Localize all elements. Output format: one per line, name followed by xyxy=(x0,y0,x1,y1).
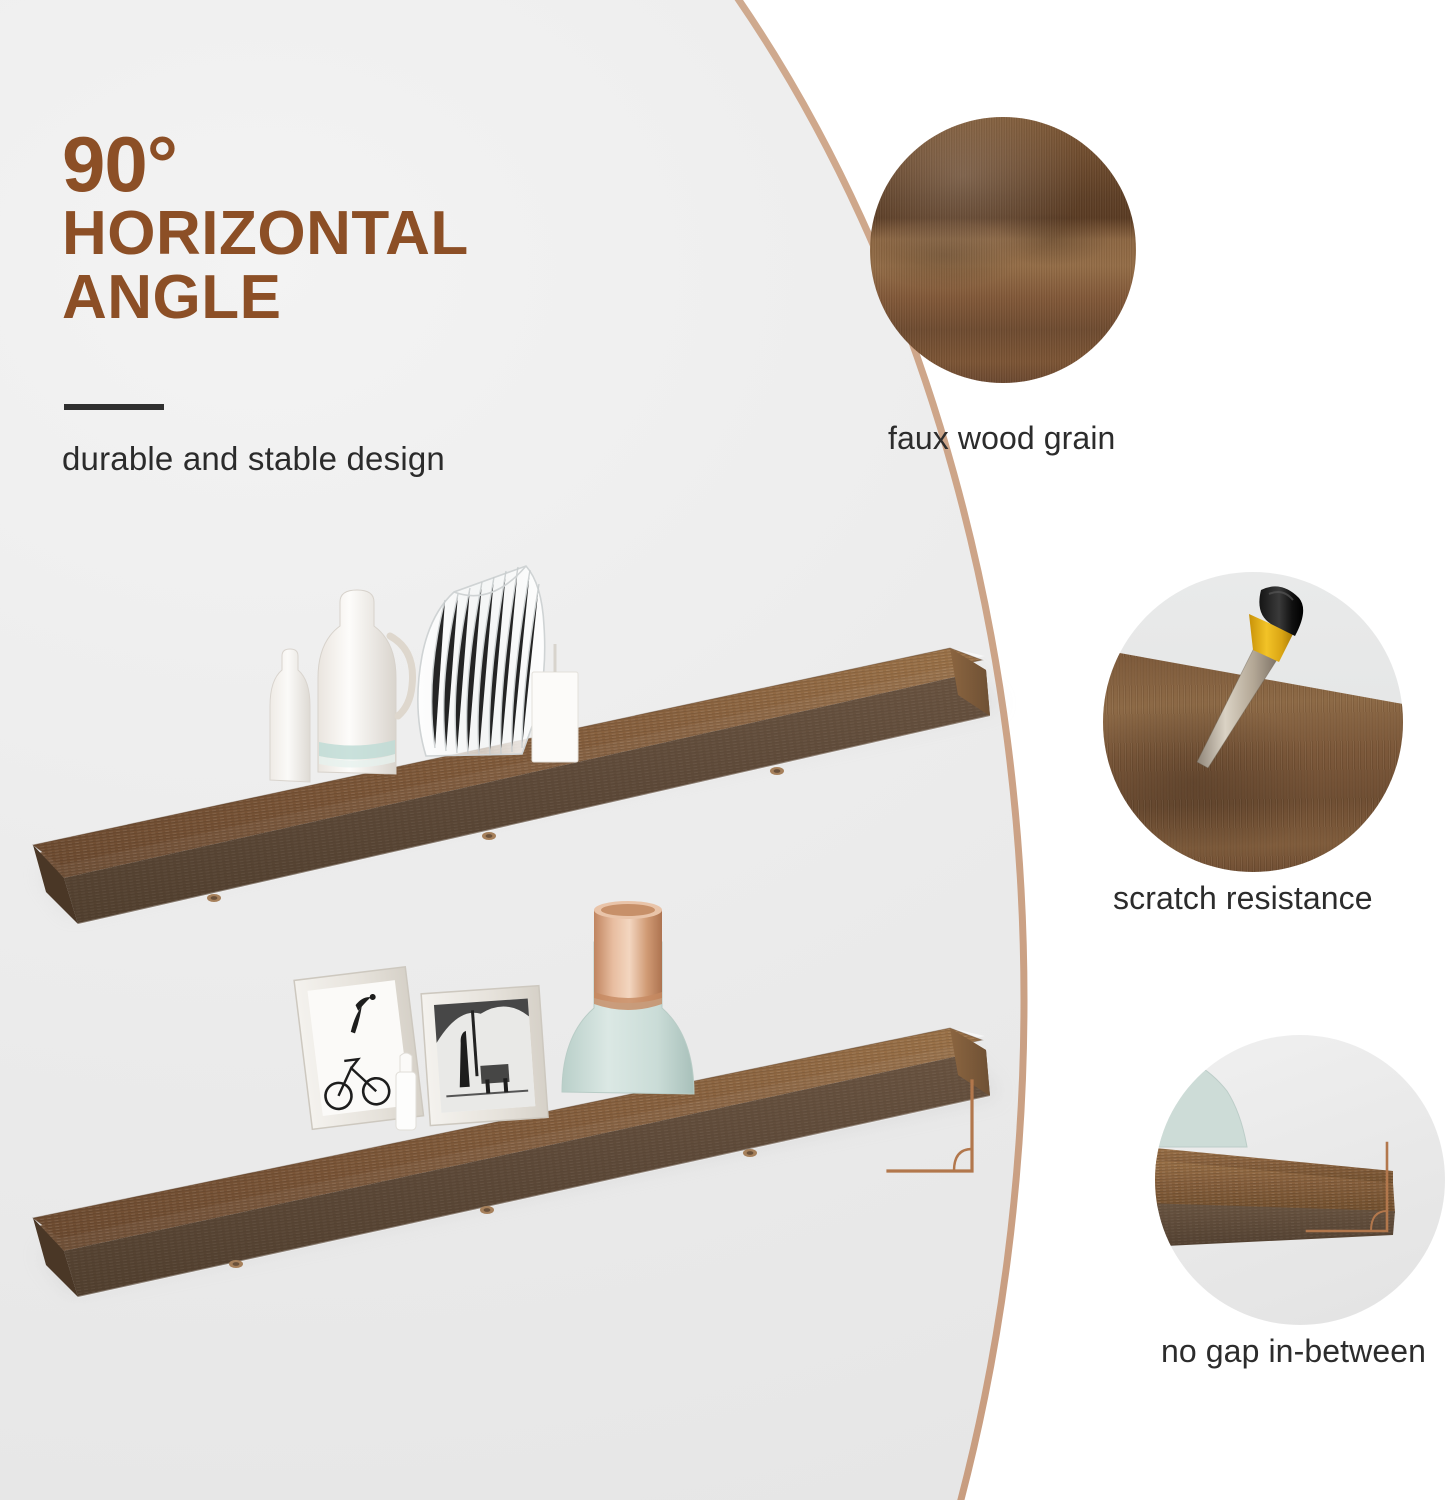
shelf-screw xyxy=(207,894,221,902)
no-gap-caption: no gap in-between xyxy=(1161,1333,1426,1370)
feature-no-gap-in-between: no gap in-between xyxy=(1155,1035,1445,1325)
no-gap-photo xyxy=(1155,1035,1445,1325)
scratch-resistance-photo xyxy=(1103,572,1403,872)
headline-divider-rule xyxy=(64,404,164,410)
headline-line-1: HORIZONTAL xyxy=(62,202,682,265)
mint-copper-vase xyxy=(562,901,694,1094)
small-white-vase xyxy=(270,649,310,782)
headline-block: 90° HORIZONTAL ANGLE xyxy=(62,126,682,329)
feature-faux-wood-grain: faux wood grain xyxy=(870,117,1136,383)
headline-subtitle: durable and stable design xyxy=(62,440,445,478)
fluted-glass-vase xyxy=(418,566,545,756)
lower-shelf-decor xyxy=(250,880,720,1210)
feature-scratch-resistance: scratch resistance xyxy=(1103,572,1403,872)
large-white-jug xyxy=(318,590,413,774)
headline-line-2: ANGLE xyxy=(62,266,682,329)
shelf-edge-closeup xyxy=(1155,1035,1445,1325)
picture-frame-right xyxy=(421,986,548,1126)
shelf-screw xyxy=(229,1260,243,1268)
faux-wood-grain-caption: faux wood grain xyxy=(888,420,1115,457)
faux-wood-grain-swatch xyxy=(870,117,1136,383)
screwdriver-icon xyxy=(1103,572,1403,872)
shelf-screw xyxy=(743,1149,757,1157)
upper-shelf-decor xyxy=(230,510,660,860)
product-feature-graphic: 90° HORIZONTAL ANGLE durable and stable … xyxy=(0,0,1445,1500)
lower-shelf xyxy=(0,950,1010,1330)
scratch-resistance-caption: scratch resistance xyxy=(1113,880,1373,917)
headline-degree: 90° xyxy=(62,126,682,202)
shelf-screw xyxy=(770,767,784,775)
right-angle-marker-icon xyxy=(880,1075,1000,1205)
